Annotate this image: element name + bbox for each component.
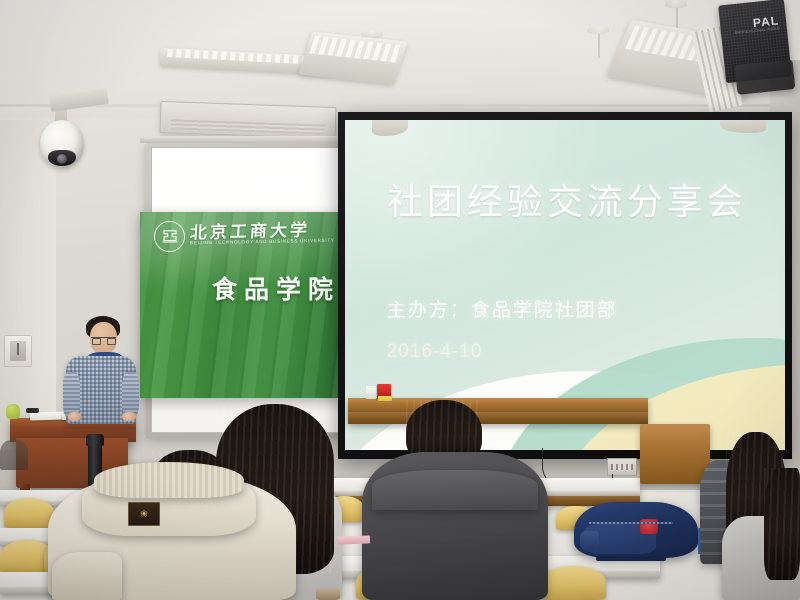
- brand-tag-glyph-icon: ❀: [140, 510, 148, 519]
- white-package: [366, 386, 376, 399]
- microphone-head: [86, 434, 104, 446]
- jacket-brand-tag: ❀: [128, 502, 160, 526]
- lamp-rod: [598, 30, 600, 58]
- wooden-classroom-chair: [540, 566, 606, 600]
- backpack-side-pocket: [580, 531, 599, 552]
- dome-security-camera: [40, 120, 84, 168]
- outlet-slot: [17, 343, 19, 356]
- yellow-package: [378, 396, 392, 401]
- lectern-remote[interactable]: [26, 408, 39, 413]
- air-conditioner-vents: [171, 119, 324, 135]
- presenter-hand-left: [68, 412, 81, 421]
- wooden-classroom-chair: [4, 498, 54, 528]
- backpack-logo-patch: [640, 519, 659, 535]
- hair-sheen: [764, 468, 800, 580]
- outlet-face: [10, 341, 27, 361]
- fluorescent-tubes: [309, 35, 403, 62]
- glasses-lens-right: [107, 338, 116, 345]
- university-emblem-icon: [154, 221, 185, 252]
- cream-jacket-hood-rim: [94, 462, 244, 498]
- dark-chair-back: [0, 440, 28, 470]
- ceiling-seam: [0, 104, 800, 107]
- grey-sweater-shoulder-highlight: [372, 470, 538, 510]
- student-right-hair: [764, 468, 800, 580]
- slide-title: 社团经验交流分享会: [387, 173, 747, 225]
- speaker-driver-shadow: [735, 59, 796, 95]
- slide-host-line: 主办方：食品学院社团部: [387, 295, 618, 322]
- board-top-rail: [140, 136, 348, 143]
- wall-air-conditioner: [159, 101, 336, 139]
- presenter-hand-right: [122, 412, 136, 421]
- navy-backpack-on-desk[interactable]: [574, 502, 698, 558]
- slide-date: 2016-4-10: [387, 341, 483, 363]
- paper-cup[interactable]: [316, 588, 340, 600]
- green-cup: [6, 404, 20, 419]
- connection-box-ports: [611, 464, 633, 470]
- department-banner: 北京工商大学 BEIJING TECHNOLOGY AND BUSINESS U…: [140, 212, 348, 398]
- backpack-zipper: [589, 522, 673, 524]
- presenter-arm-left: [63, 372, 80, 418]
- side-wood-panel: [640, 424, 710, 484]
- banner-department-name: 食品学院: [212, 270, 340, 306]
- presenter-glasses: [91, 337, 116, 339]
- classroom-presentation-photo: PAL PROFESSIONAL AUDIO 北京工商大学 BEIJING TE…: [0, 0, 800, 600]
- emblem-motif-icon: [161, 228, 179, 243]
- wall-power-outlet[interactable]: [4, 335, 32, 367]
- lamp-cup: [665, 0, 687, 8]
- front-counter-apron: [348, 412, 648, 424]
- cream-jacket-sleeve: [52, 552, 122, 600]
- lamp-cup: [587, 26, 609, 34]
- pink-notebook[interactable]: [338, 535, 370, 544]
- glasses-lens-left: [92, 338, 101, 345]
- backpack-strap: [596, 556, 665, 561]
- left-wall: [0, 120, 56, 450]
